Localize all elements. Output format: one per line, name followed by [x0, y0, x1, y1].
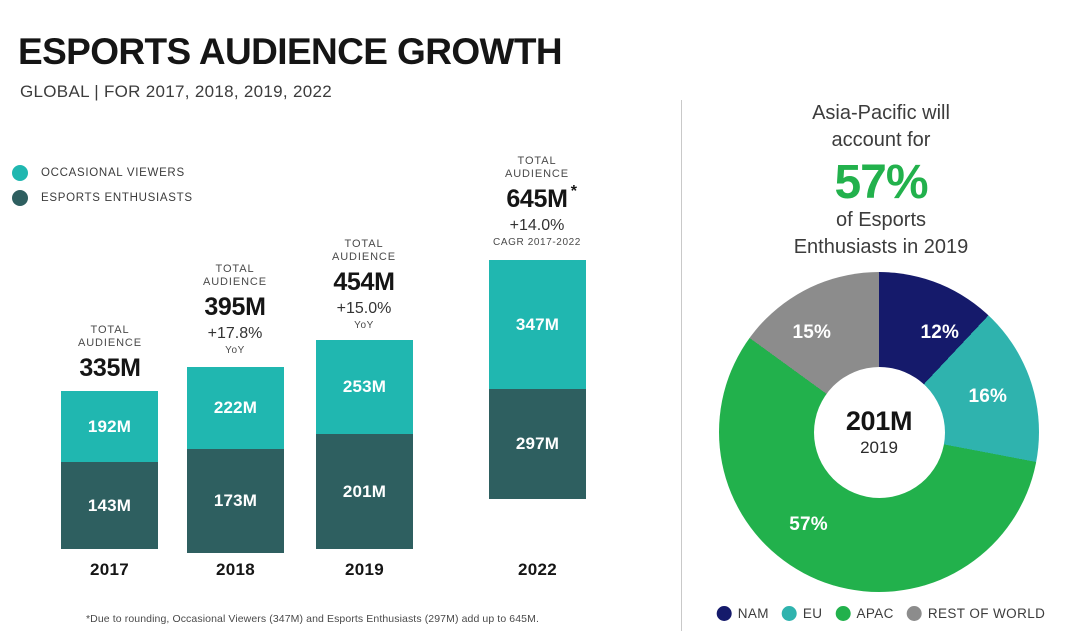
total-audience-value: 395M	[204, 293, 265, 322]
headline-line-2: account for	[682, 127, 1080, 154]
total-audience-caption: TOTAL AUDIENCE	[300, 238, 428, 264]
total-audience-caption: TOTAL AUDIENCE	[46, 324, 174, 350]
donut-chart: 12% 16% 57% 15% 201M 2019	[719, 272, 1039, 592]
right-panel: Asia-Pacific will account for 57% of Esp…	[682, 0, 1080, 631]
bar-2017: 192M 143M	[61, 391, 158, 549]
donut-center: 201M 2019	[814, 367, 945, 498]
bar-column-2019: TOTAL AUDIENCE 454M +15.0% YoY	[300, 238, 428, 331]
bar-caption-2018: TOTAL AUDIENCE 395M +17.8% YoY	[171, 263, 299, 356]
subtext-line-2: Enthusiasts in 2019	[682, 234, 1080, 261]
total-audience-value: 645M*	[506, 185, 567, 214]
bar-segment-enthusiasts-2022: 297M	[489, 389, 586, 499]
bar-caption-2019: TOTAL AUDIENCE 454M +15.0% YoY	[300, 238, 428, 331]
donut-slice-label-eu: 16%	[968, 386, 1007, 408]
donut-legend-item-apac: APAC	[835, 606, 893, 621]
donut-center-year: 2019	[860, 438, 898, 458]
bar-column-2022: TOTAL AUDIENCE 645M* +14.0% CAGR 2017-20…	[473, 155, 601, 248]
growth-value: +15.0%	[300, 300, 428, 318]
legend-swatch-icon	[907, 606, 922, 621]
donut-slice-label-nam: 12%	[920, 322, 959, 344]
subtext-line-1: of Esports	[682, 207, 1080, 234]
donut-legend-label: NAM	[738, 606, 769, 621]
donut-legend-item-eu: EU	[782, 606, 823, 621]
donut-legend: NAM EU APAC REST OF WORLD	[717, 606, 1046, 621]
highlight-stat: 57%	[682, 157, 1080, 209]
growth-note: YoY	[171, 345, 299, 356]
total-audience-value: 335M	[79, 354, 140, 383]
bar-year-label-2018: 2018	[187, 560, 284, 580]
bar-2019: 253M 201M	[316, 340, 413, 549]
bar-segment-occasional-2022: 347M	[489, 260, 586, 389]
total-audience-caption: TOTAL AUDIENCE	[473, 155, 601, 181]
bar-column-2017: TOTAL AUDIENCE 335M	[46, 324, 174, 383]
donut-legend-item-rest-of-world: REST OF WORLD	[907, 606, 1045, 621]
footnote: *Due to rounding, Occasional Viewers (34…	[86, 613, 539, 625]
bar-segment-label: 201M	[316, 482, 413, 502]
right-panel-headline: Asia-Pacific will account for	[682, 100, 1080, 154]
headline-line-1: Asia-Pacific will	[682, 100, 1080, 127]
donut-center-value: 201M	[846, 406, 912, 437]
growth-note: YoY	[300, 320, 428, 331]
legend-swatch-icon	[717, 606, 732, 621]
bar-segment-enthusiasts-2017: 143M	[61, 462, 158, 549]
bar-segment-occasional-2019: 253M	[316, 340, 413, 434]
bar-segment-enthusiasts-2019: 201M	[316, 434, 413, 549]
bar-segment-label: 192M	[61, 417, 158, 437]
growth-value: +17.8%	[171, 325, 299, 343]
bar-segment-label: 347M	[489, 315, 586, 335]
total-audience-value: 454M	[333, 268, 394, 297]
bar-year-label-2017: 2017	[61, 560, 158, 580]
total-audience-number: 645M	[506, 185, 567, 213]
infographic-root: ESPORTS AUDIENCE GROWTH GLOBAL | FOR 201…	[0, 0, 1080, 631]
bar-segment-label: 173M	[187, 491, 284, 511]
bar-year-label-2019: 2019	[316, 560, 413, 580]
bar-2022: 347M 297M	[489, 260, 586, 499]
bar-column-2018: TOTAL AUDIENCE 395M +17.8% YoY	[171, 263, 299, 356]
bar-segment-label: 222M	[187, 398, 284, 418]
growth-note: CAGR 2017-2022	[473, 237, 601, 248]
bar-segment-occasional-2017: 192M	[61, 391, 158, 462]
donut-legend-label: REST OF WORLD	[928, 606, 1045, 621]
donut-slice-label-apac: 57%	[789, 514, 828, 536]
donut-slice-label-rest: 15%	[792, 322, 831, 344]
bar-segment-enthusiasts-2018: 173M	[187, 449, 284, 553]
bar-caption-2017: TOTAL AUDIENCE 335M	[46, 324, 174, 383]
donut-legend-label: APAC	[856, 606, 893, 621]
total-audience-caption: TOTAL AUDIENCE	[171, 263, 299, 289]
donut-legend-label: EU	[803, 606, 823, 621]
bar-caption-2022: TOTAL AUDIENCE 645M* +14.0% CAGR 2017-20…	[473, 155, 601, 248]
bar-chart: TOTAL AUDIENCE 335M 192M 143M 2017 TOTAL…	[0, 0, 660, 631]
bar-segment-label: 143M	[61, 496, 158, 516]
donut-legend-item-nam: NAM	[717, 606, 769, 621]
asterisk-marker: *	[571, 183, 577, 201]
right-panel-subtext: of Esports Enthusiasts in 2019	[682, 207, 1080, 261]
bar-segment-label: 253M	[316, 377, 413, 397]
bar-segment-occasional-2018: 222M	[187, 367, 284, 449]
legend-swatch-icon	[835, 606, 850, 621]
bar-2018: 222M 173M	[187, 367, 284, 553]
bar-segment-label: 297M	[489, 434, 586, 454]
growth-value: +14.0%	[473, 217, 601, 235]
bar-year-label-2022: 2022	[489, 560, 586, 580]
legend-swatch-icon	[782, 606, 797, 621]
